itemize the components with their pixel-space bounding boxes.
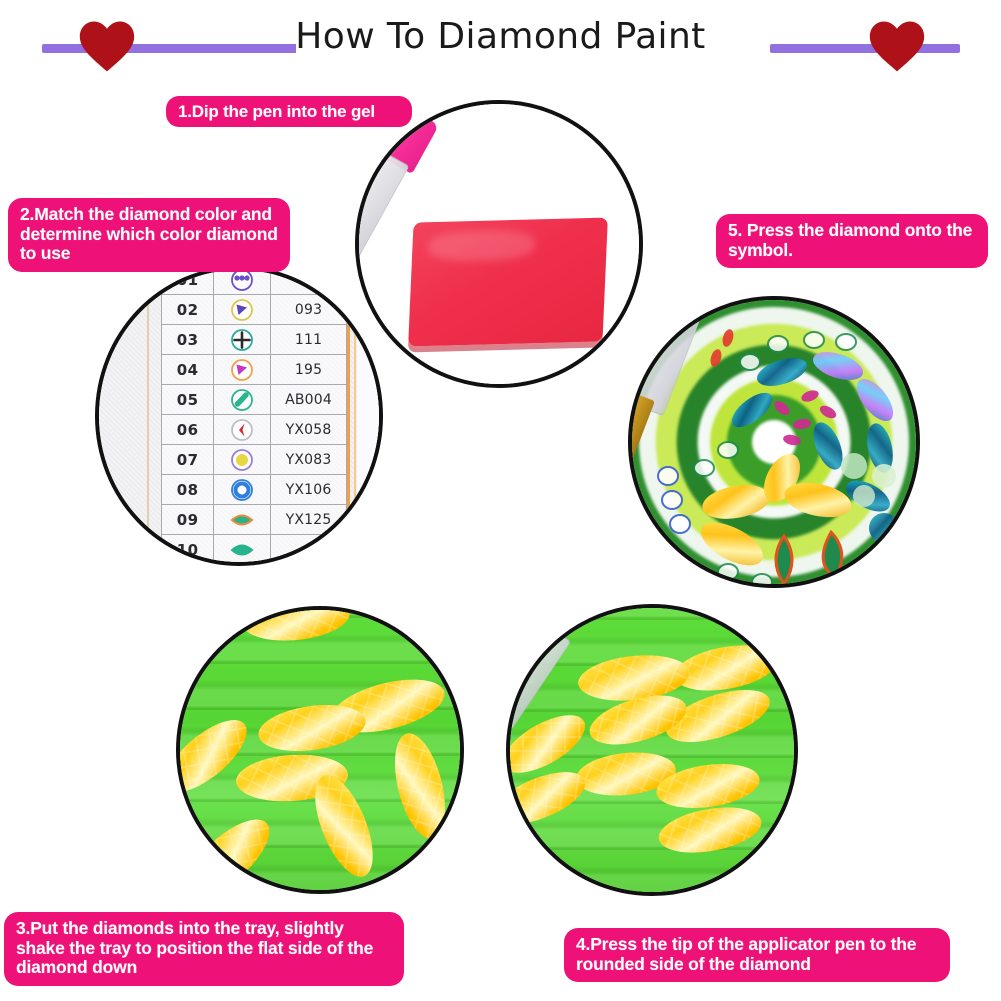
step-5-photo bbox=[628, 296, 920, 588]
chart-row-number: 09 bbox=[162, 505, 214, 535]
step-1-label: 1.Dip the pen into the gel bbox=[166, 96, 412, 127]
header: How To Diamond Paint bbox=[0, 0, 1001, 88]
color-chart-row: 07YX083 bbox=[162, 445, 347, 475]
chart-row-symbol-icon bbox=[214, 385, 271, 415]
step-4-photo bbox=[506, 604, 798, 896]
chart-row-number: 10 bbox=[162, 535, 214, 565]
infographic-canvas: How To Diamond Paint 1.Dip the pen into … bbox=[0, 0, 1001, 1001]
step-2-label: 2.Match the diamond color and determine … bbox=[8, 198, 290, 272]
chart-row-code: YX083 bbox=[271, 445, 347, 475]
color-chart-body: 0102002093031110419505AB00406YX05807YX08… bbox=[162, 266, 347, 565]
step-5-label: 5. Press the diamond onto the symbol. bbox=[716, 214, 988, 268]
chart-row-number: 08 bbox=[162, 475, 214, 505]
chart-row-number: 06 bbox=[162, 415, 214, 445]
chart-row-code: YX106 bbox=[271, 475, 347, 505]
chart-row-code bbox=[271, 535, 347, 565]
color-chart-row: 04195 bbox=[162, 355, 347, 385]
chart-row-symbol-icon bbox=[214, 475, 271, 505]
chart-row-code: 093 bbox=[271, 295, 347, 325]
chart-row-code: 195 bbox=[271, 355, 347, 385]
chart-row-code: AB004 bbox=[271, 385, 347, 415]
chart-row-number: 03 bbox=[162, 325, 214, 355]
chart-row-number: 04 bbox=[162, 355, 214, 385]
chart-row-number: 02 bbox=[162, 295, 214, 325]
chart-row-symbol-icon bbox=[214, 505, 271, 535]
chart-row-symbol-icon bbox=[214, 295, 271, 325]
color-chart-row: 08YX106 bbox=[162, 475, 347, 505]
step-4-label: 4.Press the tip of the applicator pen to… bbox=[564, 928, 950, 982]
page-title: How To Diamond Paint bbox=[0, 14, 1001, 60]
chart-row-code: YX125 bbox=[271, 505, 347, 535]
color-chart-row: 06YX058 bbox=[162, 415, 347, 445]
step-2-photo: 0102002093031110419505AB00406YX05807YX08… bbox=[95, 266, 383, 566]
chart-row-symbol-icon bbox=[214, 355, 271, 385]
chart-row-symbol-icon bbox=[214, 325, 271, 355]
color-chart-row: 03111 bbox=[162, 325, 347, 355]
chart-row-number: 07 bbox=[162, 445, 214, 475]
color-chart-row: 10 bbox=[162, 535, 347, 565]
chart-row-symbol-icon bbox=[214, 445, 271, 475]
color-chart-row: 05AB004 bbox=[162, 385, 347, 415]
step-3-photo bbox=[176, 606, 464, 894]
tray-diamonds bbox=[180, 610, 464, 894]
gel-pad bbox=[408, 217, 608, 346]
step-1-photo bbox=[355, 100, 643, 388]
color-chart-row: 09YX125 bbox=[162, 505, 347, 535]
chart-row-number: 05 bbox=[162, 385, 214, 415]
chart-row-code: 111 bbox=[271, 325, 347, 355]
chart-row-code: YX058 bbox=[271, 415, 347, 445]
step-3-label: 3.Put the diamonds into the tray, slight… bbox=[4, 912, 404, 986]
chart-row-symbol-icon bbox=[214, 535, 271, 565]
chart-row-symbol-icon bbox=[214, 415, 271, 445]
color-chart-table: 0102002093031110419505AB00406YX05807YX08… bbox=[161, 266, 347, 565]
color-chart-row: 02093 bbox=[162, 295, 347, 325]
